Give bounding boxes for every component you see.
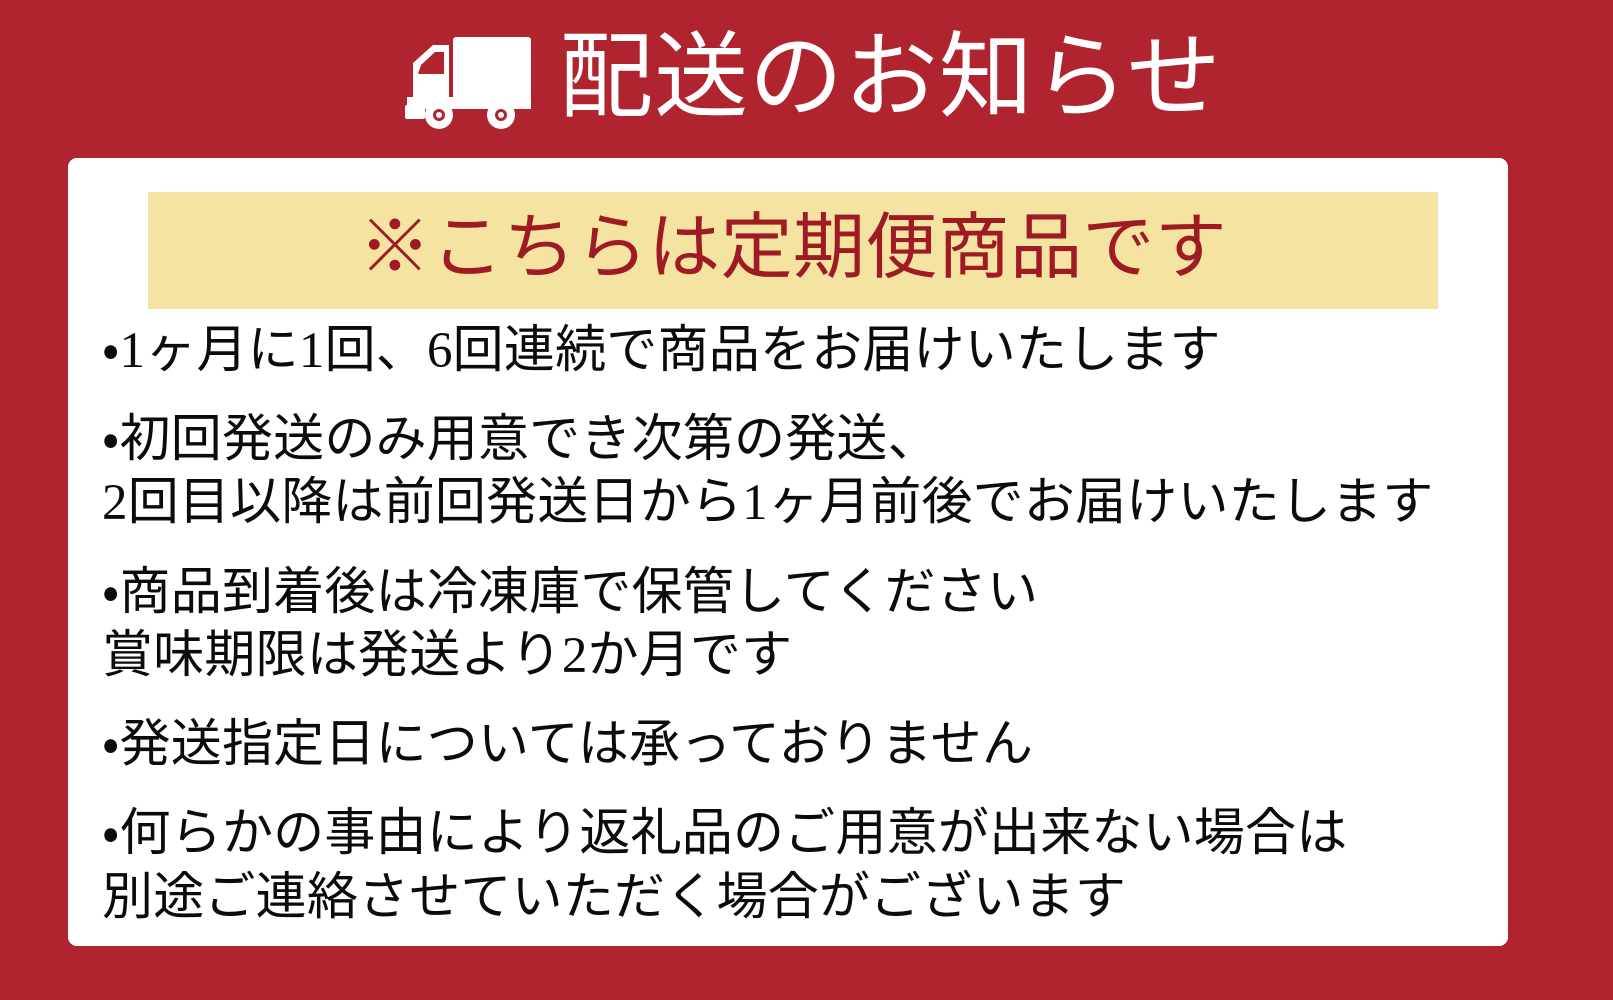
page-title: 配送のお知らせ (559, 31, 1222, 129)
notice-line: 別途ご連絡させていただく場合がございます (102, 867, 1488, 930)
notice-item: ・発送指定日については承っておりません (102, 714, 1488, 777)
subscription-highlight-text: ※こちらは定期便商品です (359, 212, 1227, 290)
subscription-highlight-bar: ※こちらは定期便商品です (148, 192, 1438, 309)
notice-card: ※こちらは定期便商品です ・1ヶ月に1回、6回連続で商品をお届けいたします ・初… (68, 158, 1508, 946)
notice-line: 賞味期限は発送より2か月です (102, 625, 1488, 688)
delivery-truck-icon (391, 29, 533, 131)
notice-item: ・初回発送のみ用意でき次第の発送、 2回目以降は前回発送日から1ヶ月前後でお届け… (102, 409, 1488, 535)
notice-line: ・商品到着後は冷凍庫で保管してください (102, 562, 1488, 625)
notice-item: ・商品到着後は冷凍庫で保管してください 賞味期限は発送より2か月です (102, 562, 1488, 688)
notice-line: ・1ヶ月に1回、6回連続で商品をお届けいたします (102, 320, 1488, 383)
notice-line: ・発送指定日については承っておりません (102, 714, 1488, 777)
notice-line: ・初回発送のみ用意でき次第の発送、 (102, 409, 1488, 472)
notice-line: ・何らかの事由により返礼品のご用意が出来ない場合は (102, 803, 1488, 866)
notice-list: ・1ヶ月に1回、6回連続で商品をお届けいたします ・初回発送のみ用意でき次第の発… (102, 320, 1488, 930)
notice-item: ・何らかの事由により返礼品のご用意が出来ない場合は 別途ご連絡させていただく場合… (102, 803, 1488, 929)
banner-header: 配送のお知らせ (0, 0, 1613, 160)
notice-item: ・1ヶ月に1回、6回連続で商品をお届けいたします (102, 320, 1488, 383)
delivery-notice-banner: 配送のお知らせ ※こちらは定期便商品です ・1ヶ月に1回、6回連続で商品をお届け… (0, 0, 1613, 1000)
notice-line: 2回目以降は前回発送日から1ヶ月前後でお届けいたします (102, 472, 1488, 535)
